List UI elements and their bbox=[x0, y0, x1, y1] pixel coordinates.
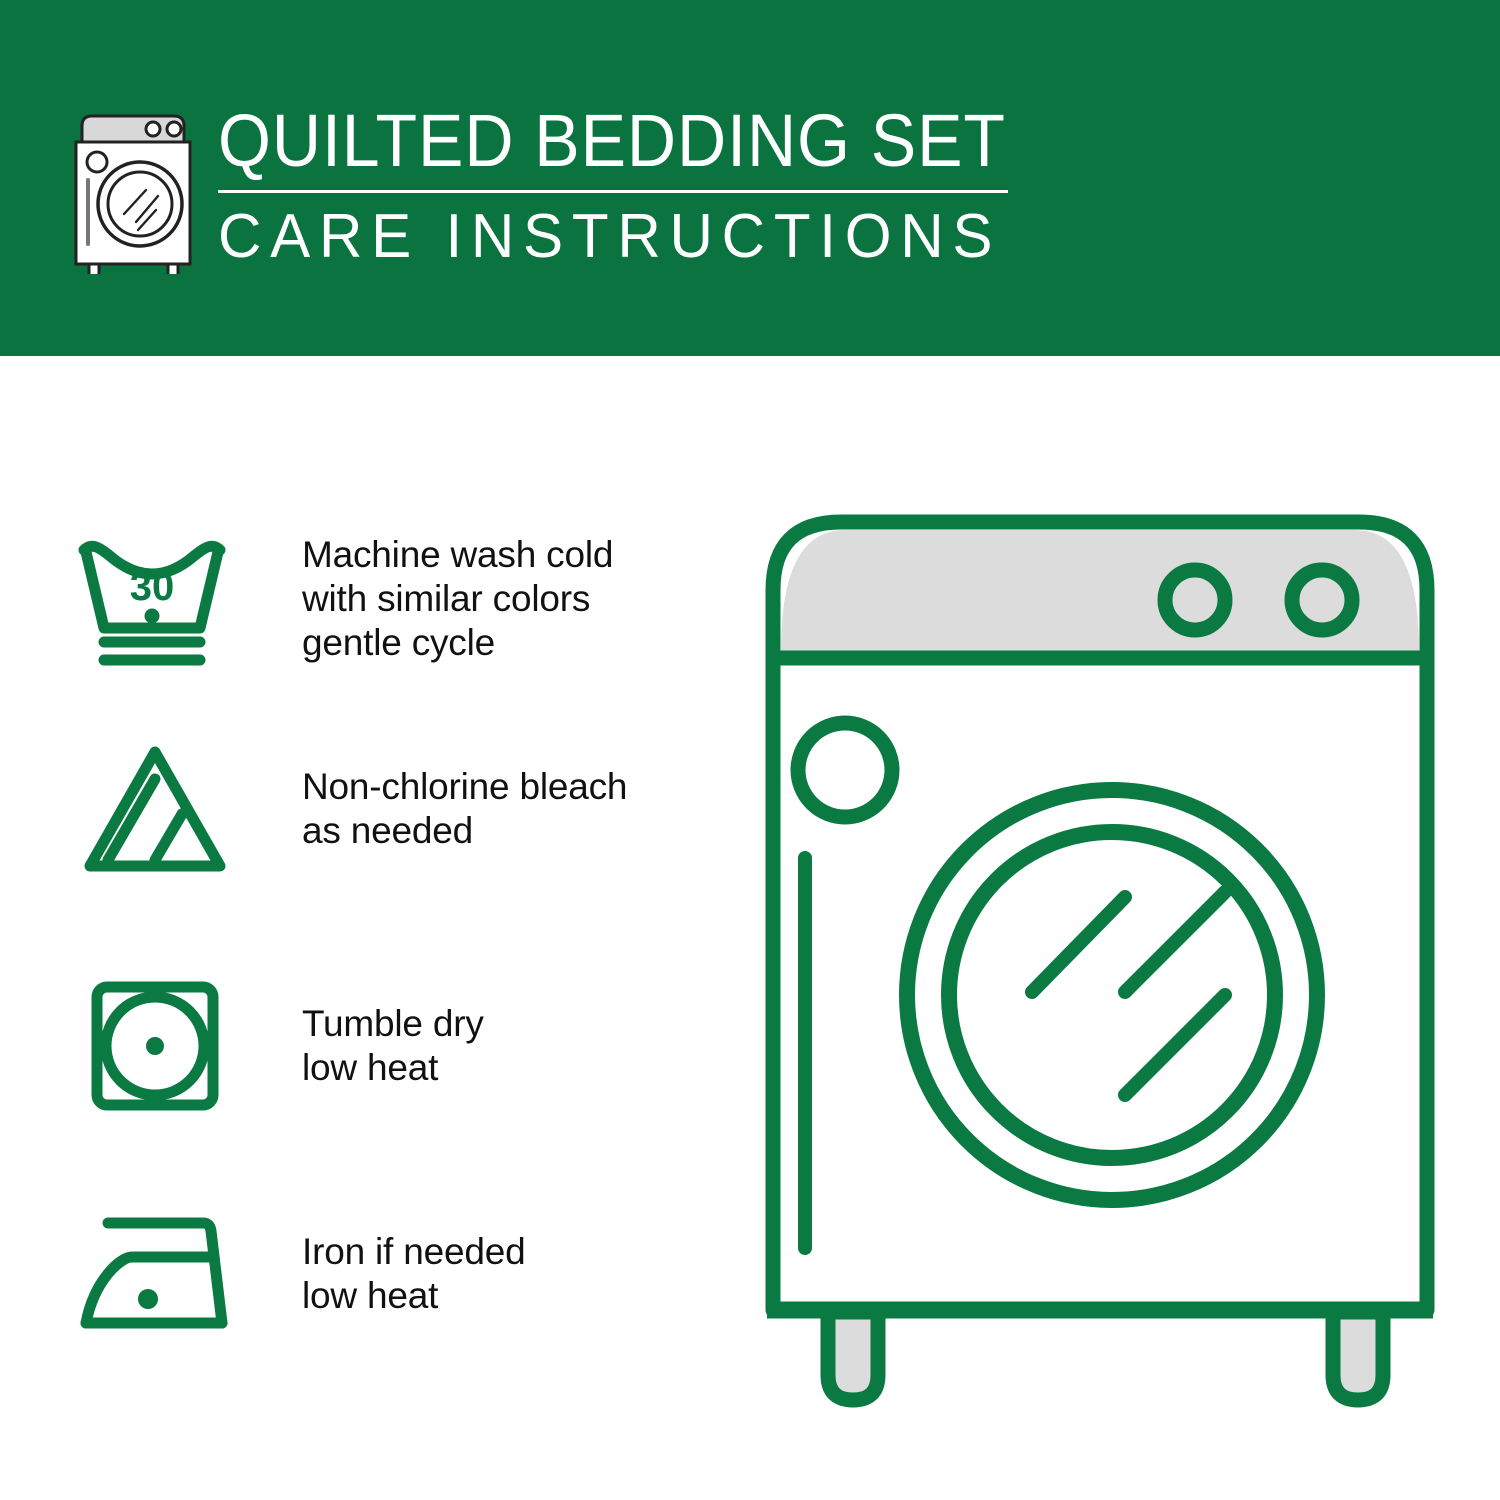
knob-left bbox=[1165, 570, 1225, 630]
wash-tub-30-gentle-icon: 30 bbox=[70, 521, 240, 676]
wash-temperature-value: 30 bbox=[130, 565, 175, 609]
care-line: low heat bbox=[302, 1274, 525, 1318]
foot-left bbox=[828, 1312, 878, 1400]
title-divider bbox=[218, 190, 1008, 193]
header-band: QUILTED BEDDING SET CARE INSTRUCTIONS bbox=[0, 0, 1500, 356]
knob-right bbox=[1292, 570, 1352, 630]
care-line: Non-chlorine bleach bbox=[302, 765, 627, 809]
care-line: with similar colors bbox=[302, 577, 613, 621]
care-instructions-page: QUILTED BEDDING SET CARE INSTRUCTIONS bbox=[0, 0, 1500, 1500]
dispenser-circle bbox=[798, 723, 892, 817]
care-instruction-item: 30 Machine wash cold with similar colors… bbox=[70, 521, 710, 676]
care-line: Tumble dry bbox=[302, 1002, 484, 1046]
care-instruction-text: Non-chlorine bleach as needed bbox=[302, 765, 627, 853]
foot-right bbox=[1333, 1312, 1383, 1400]
page-title: QUILTED BEDDING SET bbox=[218, 100, 954, 182]
iron-low-heat-icon bbox=[70, 1196, 240, 1351]
care-line: low heat bbox=[302, 1046, 484, 1090]
care-line: Machine wash cold bbox=[302, 533, 613, 577]
header-text-block: QUILTED BEDDING SET CARE INSTRUCTIONS bbox=[218, 100, 1018, 271]
care-instruction-text: Iron if needed low heat bbox=[302, 1230, 525, 1318]
care-line: gentle cycle bbox=[302, 621, 613, 665]
front-load-washing-machine-illustration bbox=[735, 480, 1465, 1440]
care-line: Iron if needed bbox=[302, 1230, 525, 1274]
washing-machine-icon bbox=[58, 104, 208, 274]
care-instruction-item: Iron if needed low heat bbox=[70, 1196, 710, 1351]
tumble-dry-low-icon bbox=[70, 968, 240, 1123]
care-instruction-list: 30 Machine wash cold with similar colors… bbox=[0, 356, 740, 1500]
care-instruction-text: Tumble dry low heat bbox=[302, 1002, 484, 1090]
care-line: as needed bbox=[302, 809, 627, 853]
non-chlorine-bleach-triangle-icon bbox=[70, 731, 240, 886]
care-instruction-item: Tumble dry low heat bbox=[70, 968, 710, 1123]
page-subtitle: CARE INSTRUCTIONS bbox=[218, 203, 994, 271]
care-instruction-item: Non-chlorine bleach as needed bbox=[70, 731, 710, 886]
care-instruction-text: Machine wash cold with similar colors ge… bbox=[302, 533, 613, 665]
